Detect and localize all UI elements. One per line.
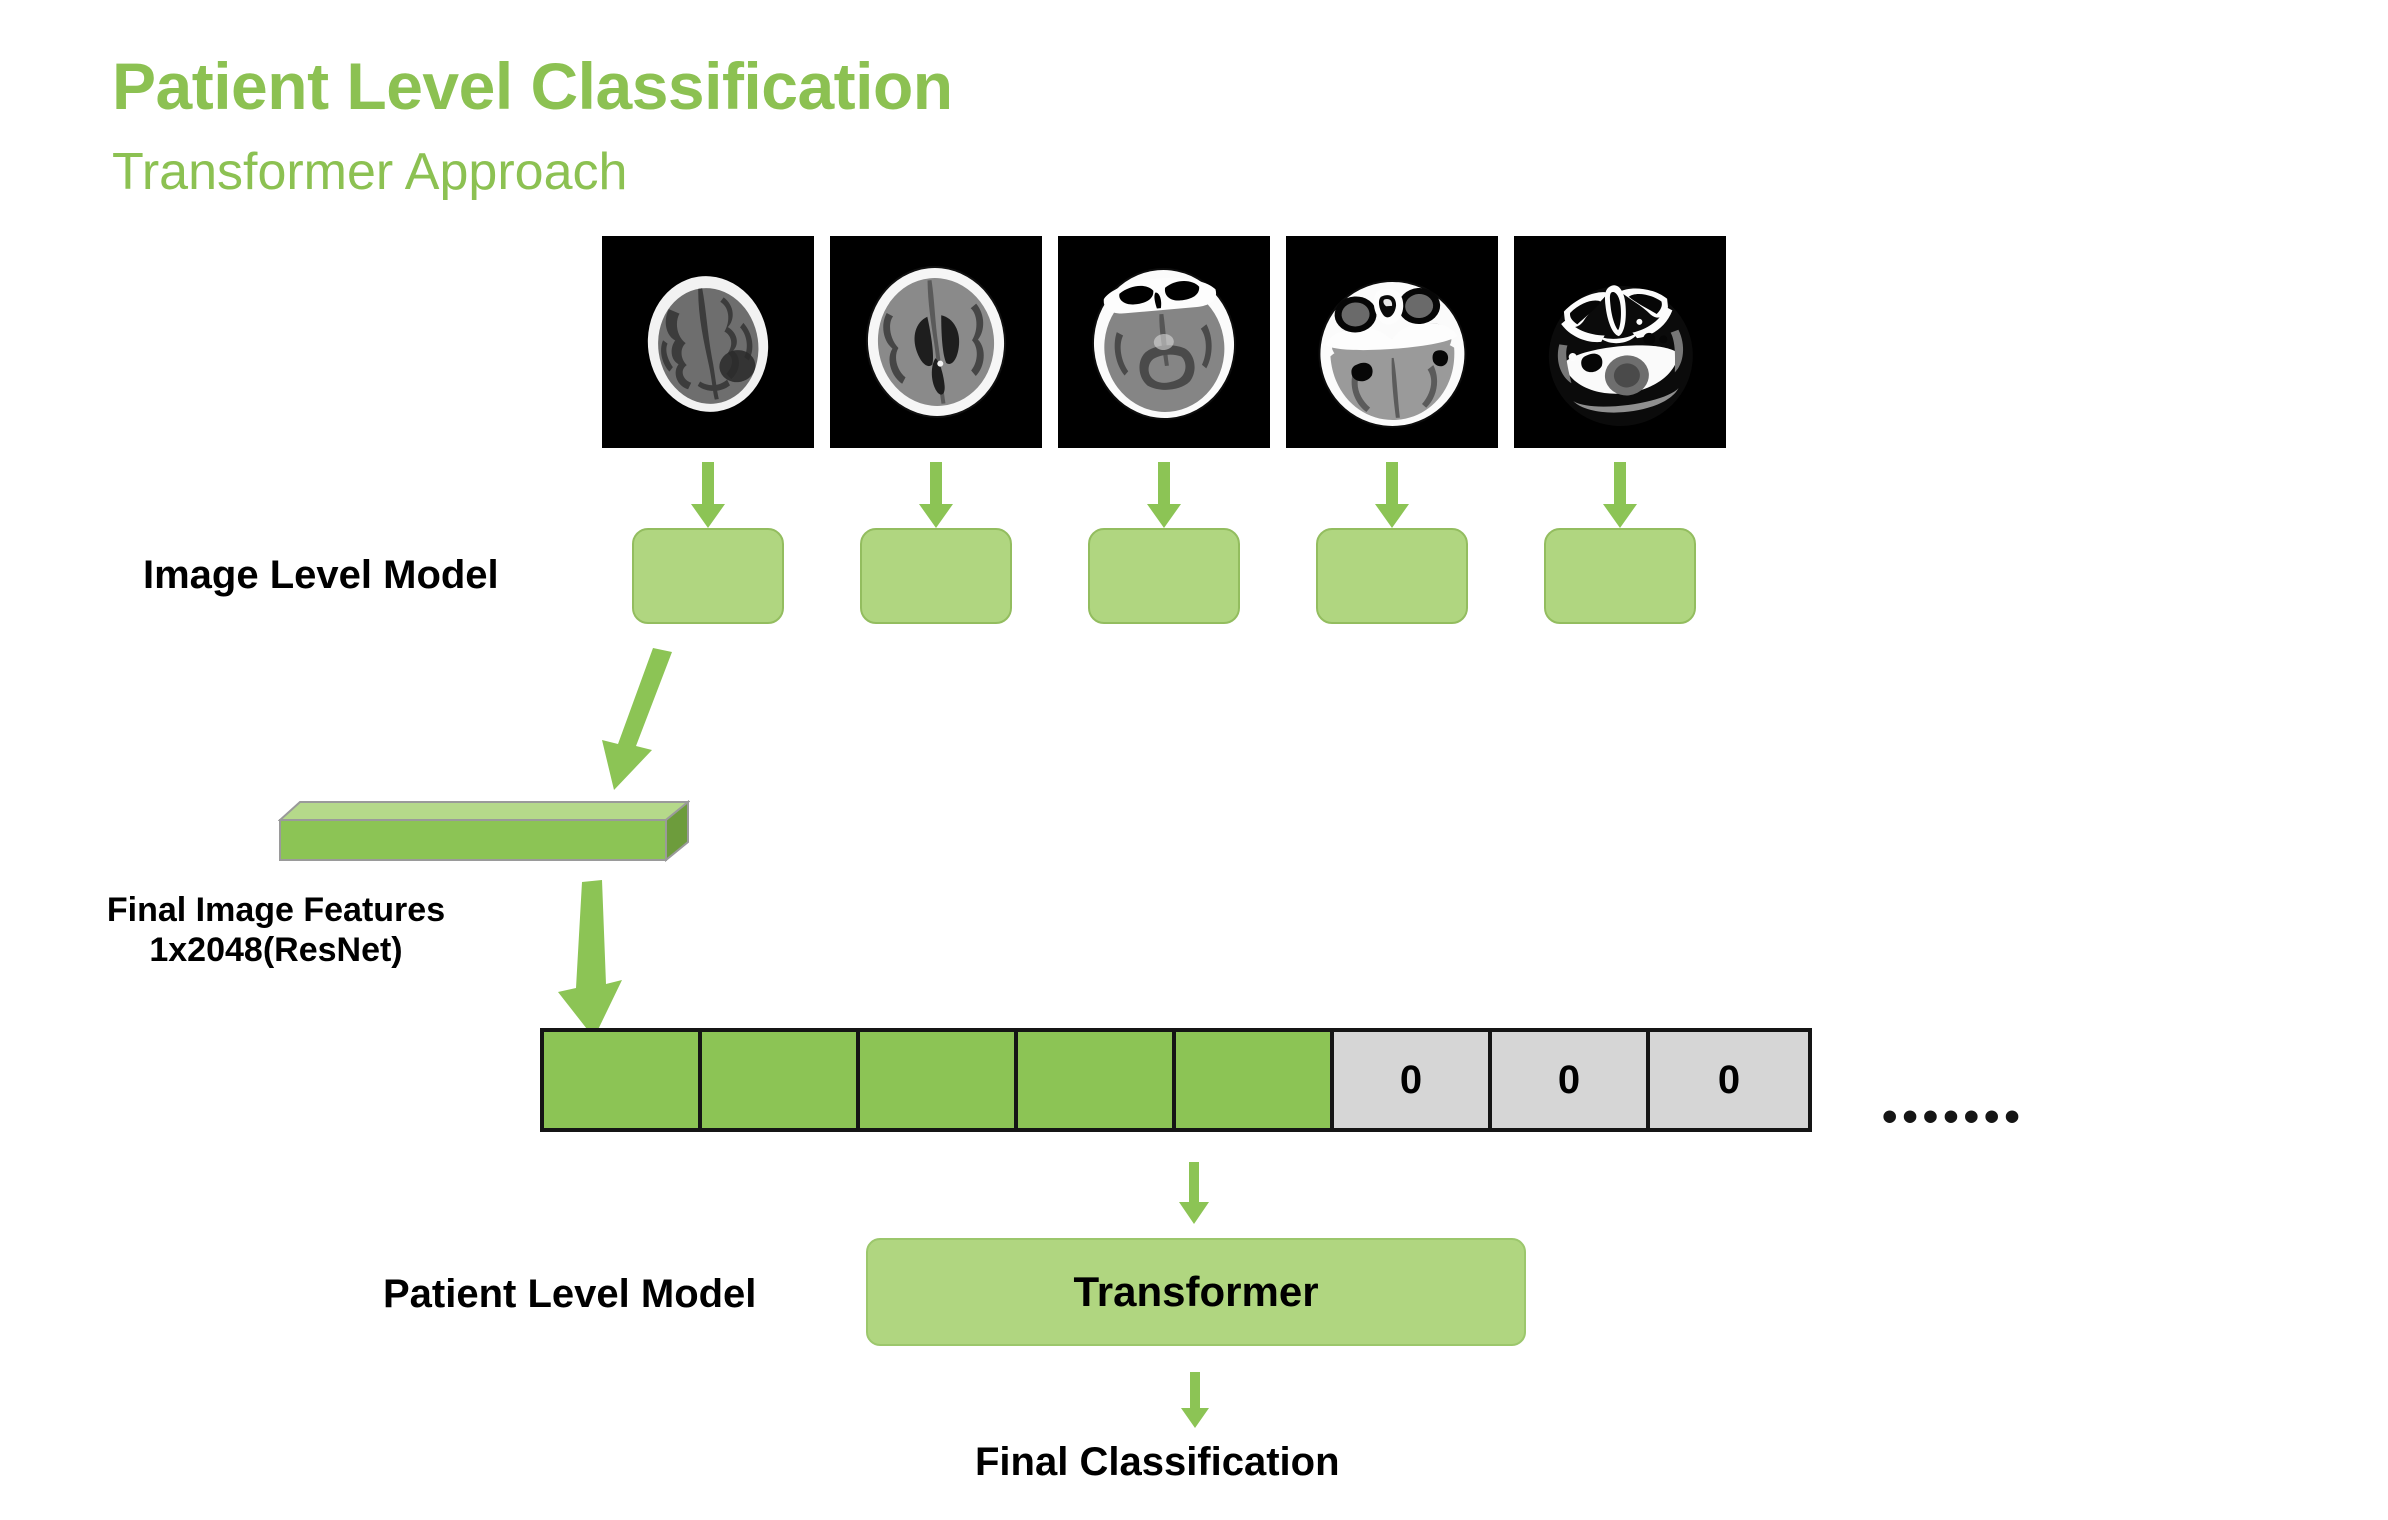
final-image-features-line2: 1x2048(ResNet) — [76, 930, 476, 970]
ct-slice-3 — [1058, 236, 1270, 448]
final-image-features-bar — [278, 800, 690, 862]
token-sequence-strip: 0 0 0 — [540, 1028, 1812, 1132]
ct-slice-5 — [1514, 236, 1726, 448]
image-level-model-box-5[interactable] — [1544, 528, 1696, 624]
sequence-cell-feature-4[interactable] — [1018, 1032, 1176, 1128]
page-subtitle: Transformer Approach — [112, 142, 627, 202]
final-classification-label: Final Classification — [975, 1440, 1340, 1485]
arrow-transformer-to-output — [1181, 1372, 1209, 1428]
image-level-model-box-4[interactable] — [1316, 528, 1468, 624]
arrow-scan-to-model-3 — [1147, 462, 1181, 528]
sequence-cell-pad-3[interactable]: 0 — [1650, 1032, 1808, 1128]
arrow-scan-to-model-1 — [691, 462, 725, 528]
slide-canvas: Patient Level Classification Transformer… — [0, 0, 2388, 1520]
final-image-features-label: Final Image Features 1x2048(ResNet) — [76, 890, 476, 970]
arrow-scan-to-model-4 — [1375, 462, 1409, 528]
transformer-box[interactable]: Transformer — [866, 1238, 1526, 1346]
ct-slice-2 — [830, 236, 1042, 448]
image-level-model-box-1[interactable] — [632, 528, 784, 624]
ct-slice-1 — [602, 236, 814, 448]
image-level-model-box-3[interactable] — [1088, 528, 1240, 624]
arrow-scan-to-model-5 — [1603, 462, 1637, 528]
sequence-cell-pad-2[interactable]: 0 — [1492, 1032, 1650, 1128]
ct-slice-4 — [1286, 236, 1498, 448]
sequence-cell-pad-1[interactable]: 0 — [1334, 1032, 1492, 1128]
final-image-features-line1: Final Image Features — [76, 890, 476, 930]
arrow-sequence-to-transformer — [1179, 1162, 1209, 1224]
sequence-cell-feature-2[interactable] — [702, 1032, 860, 1128]
image-level-model-box-2[interactable] — [860, 528, 1012, 624]
arrow-scan-to-model-2 — [919, 462, 953, 528]
sequence-ellipsis: ••••••• — [1882, 1092, 2025, 1142]
sequence-cell-feature-1[interactable] — [544, 1032, 702, 1128]
arrow-features-to-sequence — [548, 880, 668, 1040]
transformer-label: Transformer — [1073, 1268, 1318, 1316]
sequence-cell-feature-3[interactable] — [860, 1032, 1018, 1128]
image-level-model-label: Image Level Model — [143, 553, 499, 598]
sequence-cell-feature-5[interactable] — [1176, 1032, 1334, 1128]
page-title: Patient Level Classification — [112, 48, 953, 124]
patient-level-model-label: Patient Level Model — [383, 1272, 756, 1317]
arrow-model-to-features — [596, 646, 726, 792]
